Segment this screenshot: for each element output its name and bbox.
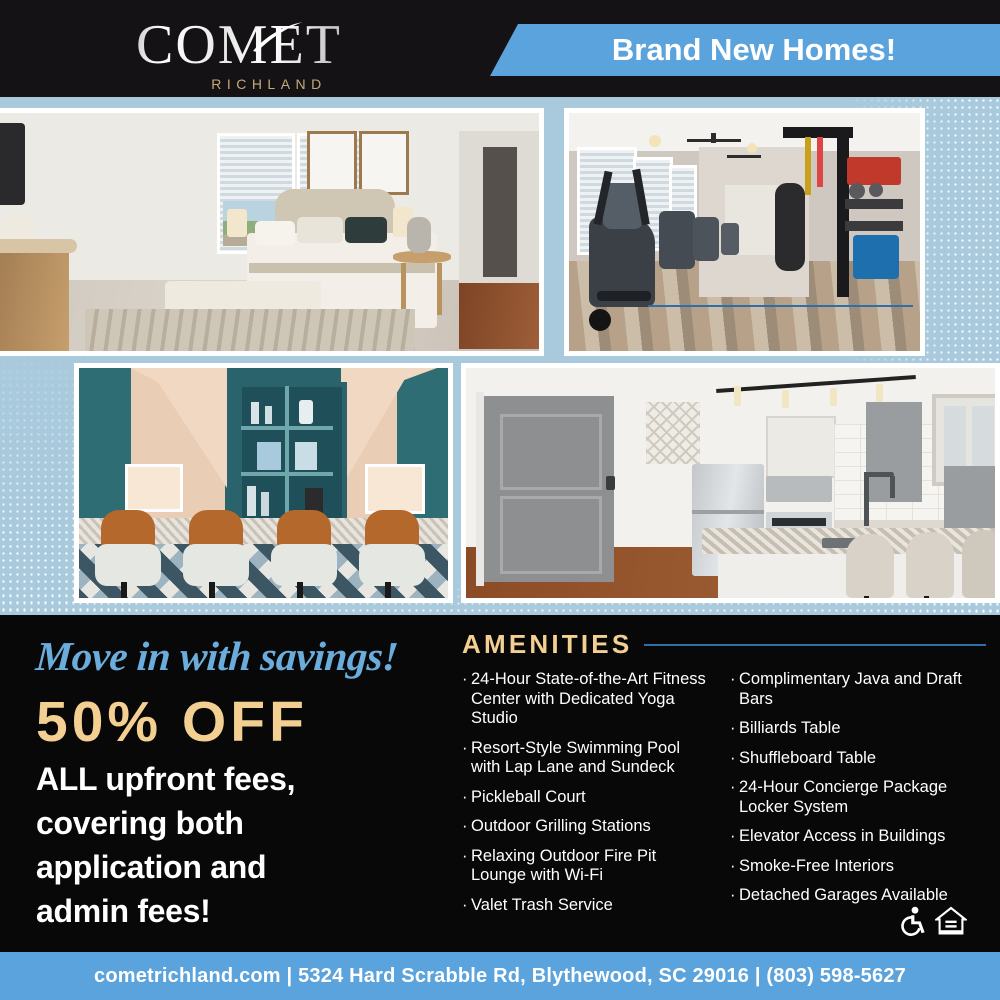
bullet-icon: · bbox=[462, 788, 471, 808]
brand-new-homes-banner: Brand New Homes! bbox=[490, 24, 1000, 76]
amenities-top-rule bbox=[644, 644, 986, 646]
list-item: ·Elevator Access in Buildings bbox=[730, 827, 980, 847]
header-bar: COMET RICHLAND Brand New Homes! bbox=[0, 0, 1000, 97]
offer-body: ALL upfront fees, covering both applicat… bbox=[36, 757, 436, 933]
wheelchair-accessible-icon bbox=[898, 906, 926, 936]
list-item: ·Relaxing Outdoor Fire Pit Lounge with W… bbox=[462, 847, 712, 886]
list-item: ·Pickleball Court bbox=[462, 788, 712, 808]
list-item: ·24-Hour State-of-the-Art Fitness Center… bbox=[462, 670, 712, 729]
flyer-root: COMET RICHLAND Brand New Homes! bbox=[0, 0, 1000, 1000]
clubhouse-bar-photo bbox=[74, 363, 453, 603]
offer-script-line: Move in with savings! bbox=[34, 633, 437, 679]
equal-housing-opportunity-icon bbox=[935, 906, 967, 936]
list-item: ·Valet Trash Service bbox=[462, 896, 712, 916]
banner-label: Brand New Homes! bbox=[594, 32, 896, 68]
footer-bar: cometrichland.com | 5324 Hard Scrabble R… bbox=[0, 952, 1000, 1000]
bullet-icon: · bbox=[730, 719, 739, 739]
bullet-icon: · bbox=[730, 749, 739, 769]
comet-richland-logo[interactable]: COMET RICHLAND bbox=[104, 16, 374, 92]
amenities-title: AMENITIES bbox=[462, 629, 632, 660]
bullet-icon: · bbox=[730, 857, 739, 877]
bullet-icon: · bbox=[730, 670, 739, 709]
list-item: ·Billiards Table bbox=[730, 719, 980, 739]
amenities-bottom-rule bbox=[648, 305, 913, 307]
list-item: ·24-Hour Concierge Package Locker System bbox=[730, 778, 980, 817]
bullet-icon: · bbox=[730, 827, 739, 847]
amenities-block: AMENITIES ·24-Hour State-of-the-Art Fitn… bbox=[462, 629, 986, 925]
photo-collage bbox=[0, 97, 1000, 615]
bullet-icon: · bbox=[462, 847, 471, 886]
bedroom-photo bbox=[0, 108, 544, 356]
list-item: ·Smoke-Free Interiors bbox=[730, 857, 980, 877]
list-item: ·Detached Garages Available bbox=[730, 886, 980, 906]
bullet-icon: · bbox=[462, 670, 471, 729]
bullet-icon: · bbox=[730, 886, 739, 906]
footer-contact-text[interactable]: cometrichland.com | 5324 Hard Scrabble R… bbox=[94, 965, 906, 988]
logo-subtitle: RICHLAND bbox=[164, 76, 374, 92]
bullet-icon: · bbox=[462, 739, 471, 778]
amenities-column-right: ·Complimentary Java and Draft Bars ·Bill… bbox=[730, 670, 980, 925]
offer-body-line: admin fees! bbox=[36, 889, 436, 933]
fitness-center-photo bbox=[564, 108, 925, 356]
offer-amenities-panel: Move in with savings! 50% OFF ALL upfron… bbox=[0, 615, 1000, 952]
list-item: ·Outdoor Grilling Stations bbox=[462, 817, 712, 837]
offer-body-line: application and bbox=[36, 845, 436, 889]
offer-percent: 50% OFF bbox=[36, 691, 436, 753]
kitchen-photo bbox=[461, 363, 1000, 603]
amenities-header: AMENITIES bbox=[462, 629, 986, 660]
list-item: ·Resort-Style Swimming Pool with Lap Lan… bbox=[462, 739, 712, 778]
offer-body-line: covering both bbox=[36, 801, 436, 845]
list-item: ·Shuffleboard Table bbox=[730, 749, 980, 769]
list-item: ·Complimentary Java and Draft Bars bbox=[730, 670, 980, 709]
bullet-icon: · bbox=[462, 896, 471, 916]
offer-block: Move in with savings! 50% OFF ALL upfron… bbox=[36, 633, 436, 933]
compliance-badges bbox=[898, 906, 967, 936]
amenities-column-left: ·24-Hour State-of-the-Art Fitness Center… bbox=[462, 670, 712, 925]
bullet-icon: · bbox=[462, 817, 471, 837]
bullet-icon: · bbox=[730, 778, 739, 817]
logo-wordmark: COMET bbox=[104, 16, 374, 74]
offer-body-line: ALL upfront fees, bbox=[36, 757, 436, 801]
